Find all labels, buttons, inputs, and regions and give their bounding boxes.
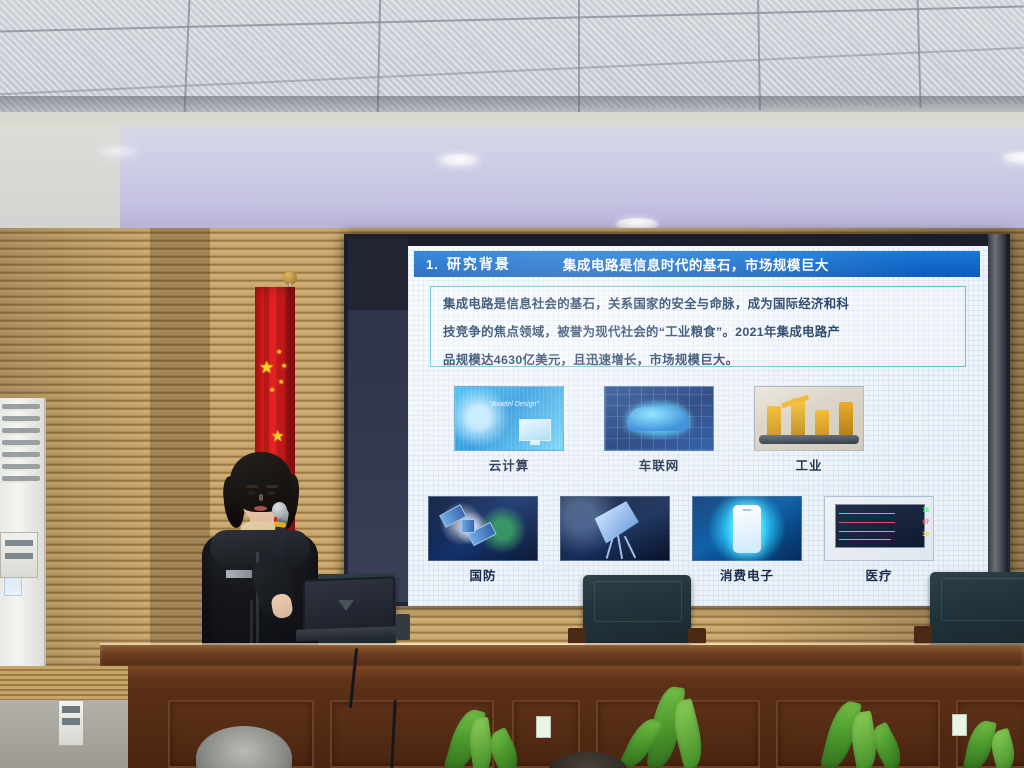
vital-reading: 97 — [922, 519, 929, 527]
chair-armrest — [568, 628, 586, 644]
flag-star-small-icon: ★ — [281, 363, 287, 370]
radar-dish-thumbnail — [560, 496, 670, 561]
thumbnail-watermark: "Avadel Design" — [489, 401, 539, 408]
eyebrow-right — [266, 485, 278, 488]
flag-star-small-icon: ★ — [276, 349, 282, 356]
monitor-icon — [519, 419, 551, 441]
conveyor-icon — [759, 435, 859, 444]
phone-icon — [733, 505, 761, 553]
ecg-wave-icon — [839, 539, 891, 540]
application-caption: 医疗 — [865, 565, 892, 584]
slide-body-line: 品规模达4630亿美元，且迅速增长，市场规模巨大。 — [431, 343, 965, 371]
wall-control-panel[interactable] — [0, 532, 38, 578]
mouth — [254, 506, 267, 511]
screen-right-bezel — [988, 234, 1006, 606]
application-caption: 国防 — [469, 565, 496, 584]
presentation-slide: 1. 研究背景 集成电路是信息时代的基石，市场规模巨大 集成电路是信息社会的基石… — [408, 246, 988, 606]
smartphone-thumbnail — [692, 496, 802, 561]
flag-star-large-icon: ★ — [271, 429, 284, 444]
ecg-wave-icon — [839, 522, 895, 523]
eyebrow-left — [246, 485, 258, 488]
medical-monitor-thumbnail: 78 97 36 — [824, 496, 934, 561]
slide-body-line: 技竞争的焦点领域，被誉为现代社会的“工业粮食”。2021年集成电路产 — [431, 315, 965, 343]
vital-reading: 36 — [922, 531, 929, 539]
application-row-2: 国防 消费电子 — [428, 496, 934, 584]
application-caption: 工业 — [795, 455, 822, 474]
application-item: 国防 — [428, 496, 538, 584]
application-caption: 消费电子 — [720, 565, 774, 584]
application-caption: 云计算 — [489, 455, 530, 474]
slide-title-bar: 1. 研究背景 集成电路是信息时代的基石，市场规模巨大 — [414, 251, 980, 277]
screen-top-panel — [348, 238, 408, 310]
industrial-robot-thumbnail — [754, 386, 864, 451]
ecg-wave-icon — [839, 513, 895, 514]
car-icon — [627, 407, 689, 431]
cloud-computing-thumbnail: "Avadel Design" — [454, 386, 564, 451]
podium-sticker — [952, 714, 967, 736]
flag-star-large-icon: ★ — [259, 359, 274, 376]
monitor-screen-icon — [835, 504, 925, 548]
application-item: 78 97 36 医疗 — [824, 496, 934, 584]
downlight-icon — [438, 154, 480, 167]
downlight-icon — [96, 146, 138, 159]
satellite-body-icon — [461, 519, 475, 533]
flag-star-small-icon: ★ — [278, 379, 284, 386]
application-item: 车联网 — [604, 386, 714, 474]
application-item: 消费电子 — [692, 496, 802, 584]
ecg-wave-icon — [839, 531, 895, 532]
podium-sticker — [536, 716, 551, 738]
microphone-stand-pole — [250, 600, 253, 648]
flag-star-small-icon: ★ — [269, 387, 275, 394]
application-item: 工业 — [754, 386, 864, 474]
desk-item — [396, 614, 410, 640]
slide-title-number: 1. — [426, 257, 439, 272]
coat-hood — [210, 530, 310, 564]
conference-chair[interactable] — [930, 572, 1024, 645]
chair-armrest — [914, 626, 932, 644]
eye-left — [247, 491, 255, 495]
nose — [259, 494, 263, 501]
application-item — [560, 496, 670, 584]
ceiling-soffit — [0, 126, 1024, 244]
slide-title-section: 研究背景 — [447, 254, 511, 274]
wall-switch-plate[interactable] — [58, 700, 84, 746]
application-row-1: "Avadel Design" 云计算 车联网 — [454, 386, 864, 474]
ceiling-panel — [0, 0, 1024, 118]
slide-body-line: 集成电路是信息社会的基石，关系国家的安全与命脉，成为国际经济和科 — [431, 287, 965, 315]
presentation-photo-scene: ★ ★ ★ ★ ★ ★ 1. 研究背景 集成电路是信息时代的基石，市场规模巨大 … — [0, 0, 1024, 768]
soffit-left-section — [0, 126, 120, 244]
connected-vehicle-thumbnail — [604, 386, 714, 451]
eye-right — [267, 491, 275, 495]
coat-logo — [226, 570, 252, 578]
dish-leg-icon — [617, 535, 623, 559]
slide-body-textbox: 集成电路是信息社会的基石，关系国家的安全与命脉，成为国际经济和科 技竞争的焦点领… — [430, 286, 966, 367]
application-caption: 车联网 — [639, 455, 680, 474]
conference-chair[interactable] — [583, 575, 691, 645]
satellite-defense-thumbnail — [428, 496, 538, 561]
dish-leg-icon — [624, 536, 636, 558]
application-item: "Avadel Design" 云计算 — [454, 386, 564, 474]
podium-rail — [128, 666, 1024, 682]
microphone-head-icon — [272, 502, 287, 518]
slide-title-subtitle: 集成电路是信息时代的基石，市场规模巨大 — [563, 254, 829, 274]
vital-reading: 78 — [922, 507, 929, 515]
chair-armrest — [688, 628, 706, 644]
